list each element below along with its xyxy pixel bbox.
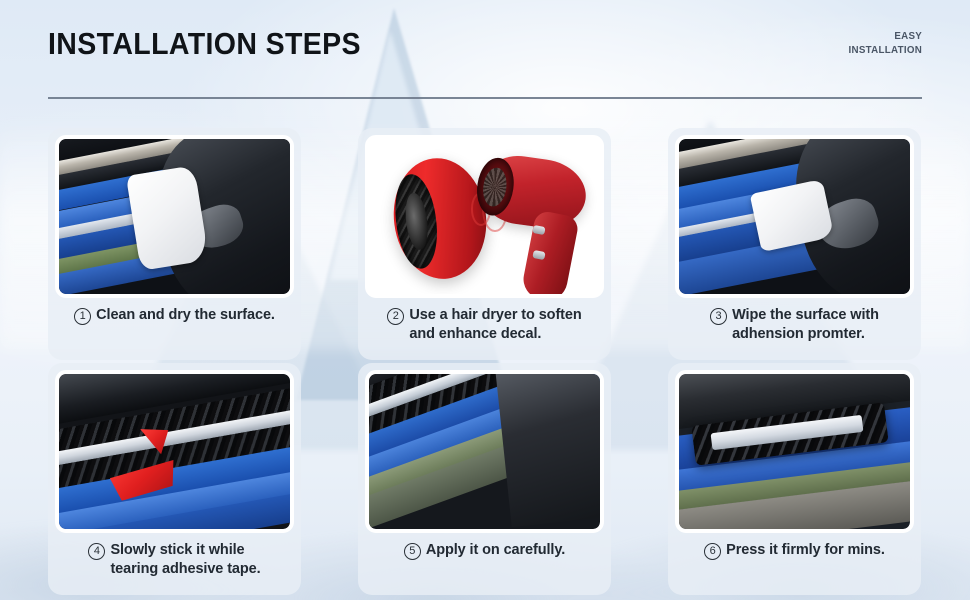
step-number-badge: 1 xyxy=(74,308,91,325)
tagline: EASY INSTALLATION xyxy=(848,30,922,58)
step-number-badge: 2 xyxy=(387,308,404,325)
step-caption-text: Apply it on carefully. xyxy=(426,541,565,560)
step-card-2: 2 Use a hair dryer to soften and enhance… xyxy=(358,128,611,360)
page-title: INSTALLATION STEPS xyxy=(48,26,361,62)
step-6-caption: 6 Press it firmly for mins. xyxy=(675,533,914,595)
step-5-caption: 5 Apply it on carefully. xyxy=(365,533,604,595)
header: INSTALLATION STEPS EASY INSTALLATION xyxy=(0,0,970,116)
step-1-photo xyxy=(55,135,294,298)
step-card-3: 3 Wipe the surface with adhension promte… xyxy=(668,128,921,360)
tagline-line-2: INSTALLATION xyxy=(848,44,922,58)
step-1-caption: 1 Clean and dry the surface. xyxy=(55,298,294,360)
hair-dryer-button-2 xyxy=(532,250,545,260)
step-4-photo xyxy=(55,370,294,533)
photo-hair-dryer-and-tape-roll xyxy=(369,139,600,294)
step-caption-text: Press it firmly for mins. xyxy=(726,541,885,560)
hair-dryer-button-1 xyxy=(532,225,545,235)
step-5-photo xyxy=(365,370,604,533)
step-number-badge: 3 xyxy=(710,308,727,325)
step-caption-text: Wipe the surface with adhension promter. xyxy=(732,306,879,343)
steps-grid: 1 Clean and dry the surface. xyxy=(48,128,922,595)
step-3-photo xyxy=(675,135,914,298)
tape-roll-core xyxy=(391,172,443,271)
step-card-5: 5 Apply it on carefully. xyxy=(358,363,611,595)
header-divider xyxy=(48,97,922,99)
photo-apply-strip-on-sill xyxy=(369,374,600,529)
step-number-badge: 6 xyxy=(704,543,721,560)
photo-wipe-with-adhesion-promoter xyxy=(679,139,910,294)
photo-stick-while-tearing-tape xyxy=(59,374,290,529)
step-caption-text: Use a hair dryer to soften and enhance d… xyxy=(409,306,581,343)
photo-finished-carbon-sill-plate xyxy=(679,374,910,529)
step-3-caption: 3 Wipe the surface with adhension promte… xyxy=(675,298,914,360)
step-2-caption: 2 Use a hair dryer to soften and enhance… xyxy=(365,298,604,360)
tagline-line-1: EASY xyxy=(848,30,922,44)
infographic-page: INSTALLATION STEPS EASY INSTALLATION xyxy=(0,0,970,600)
step-4-caption: 4 Slowly stick it while tearing adhesive… xyxy=(55,533,294,595)
step-caption-text: Clean and dry the surface. xyxy=(96,306,275,325)
step-card-6: 6 Press it firmly for mins. xyxy=(668,363,921,595)
step-card-1: 1 Clean and dry the surface. xyxy=(48,128,301,360)
photo-clean-surface-with-cloth xyxy=(59,139,290,294)
step-2-photo xyxy=(365,135,604,298)
step-caption-text: Slowly stick it while tearing adhesive t… xyxy=(110,541,260,578)
step-number-badge: 4 xyxy=(88,543,105,560)
step-6-photo xyxy=(675,370,914,533)
step-card-4: 4 Slowly stick it while tearing adhesive… xyxy=(48,363,301,595)
step-number-badge: 5 xyxy=(404,543,421,560)
